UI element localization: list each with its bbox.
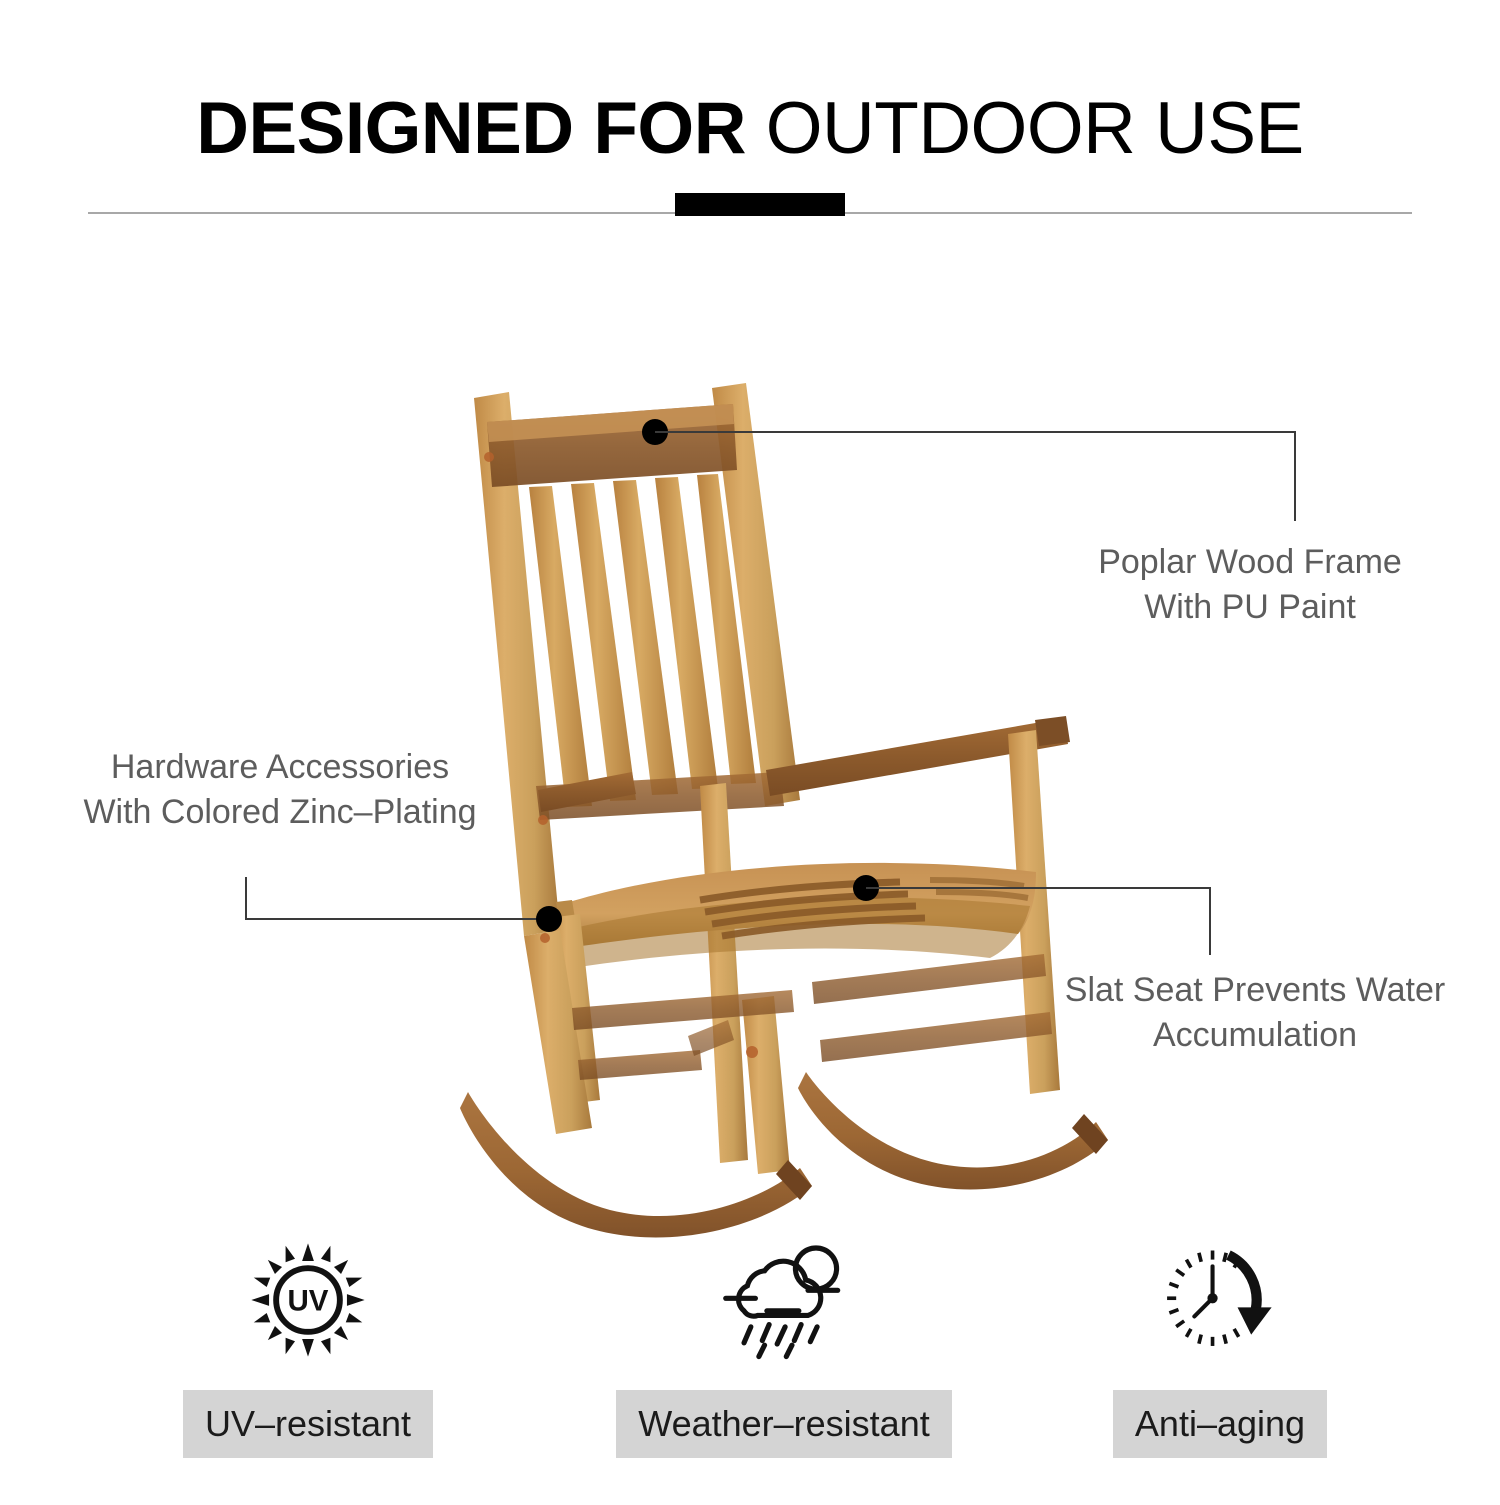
- callout-leader-vertical-1: [1294, 431, 1296, 521]
- sun-uv-icon: UV: [128, 1240, 488, 1360]
- feature-label-uv-resistant: UV–resistant: [183, 1390, 433, 1458]
- feature-badge-row: UV UV–resistant: [0, 1240, 1500, 1470]
- callout-leader-vertical-2: [245, 877, 247, 920]
- feature-weather-resistant: Weather–resistant: [604, 1240, 964, 1458]
- title-divider: [88, 202, 1412, 226]
- feature-label-weather-resistant: Weather–resistant: [616, 1390, 951, 1458]
- headline-light-part: OUTDOOR USE: [766, 88, 1304, 169]
- callout-label-poplar-wood-frame: Poplar Wood Frame With PU Paint: [1000, 540, 1500, 630]
- headline: DESIGNED FOR OUTDOOR USE: [0, 86, 1500, 172]
- callout-leader-horizontal-1: [655, 431, 1296, 433]
- svg-text:UV: UV: [288, 1285, 329, 1318]
- feature-label-anti-aging: Anti–aging: [1113, 1390, 1327, 1458]
- callout-leader-vertical-3: [1209, 887, 1211, 955]
- cloud-rain-sun-icon: [604, 1240, 964, 1360]
- callout-label-slat-seat: Slat Seat Prevents Water Accumulation: [1010, 968, 1500, 1058]
- feature-anti-aging: Anti–aging: [1040, 1240, 1400, 1458]
- callout-label-hardware-accessories: Hardware Accessories With Colored Zinc–P…: [30, 745, 530, 835]
- callout-leader-horizontal-2: [245, 918, 550, 920]
- callout-leader-horizontal-3: [866, 887, 1211, 889]
- clock-arrow-icon: [1040, 1240, 1400, 1360]
- callout-dot-hardware-accessories: [536, 906, 562, 932]
- divider-accent-block: [675, 193, 845, 216]
- headline-bold-part: DESIGNED FOR: [196, 88, 746, 169]
- feature-uv-resistant: UV UV–resistant: [128, 1240, 488, 1458]
- page-title: DESIGNED FOR OUTDOOR USE: [0, 86, 1500, 172]
